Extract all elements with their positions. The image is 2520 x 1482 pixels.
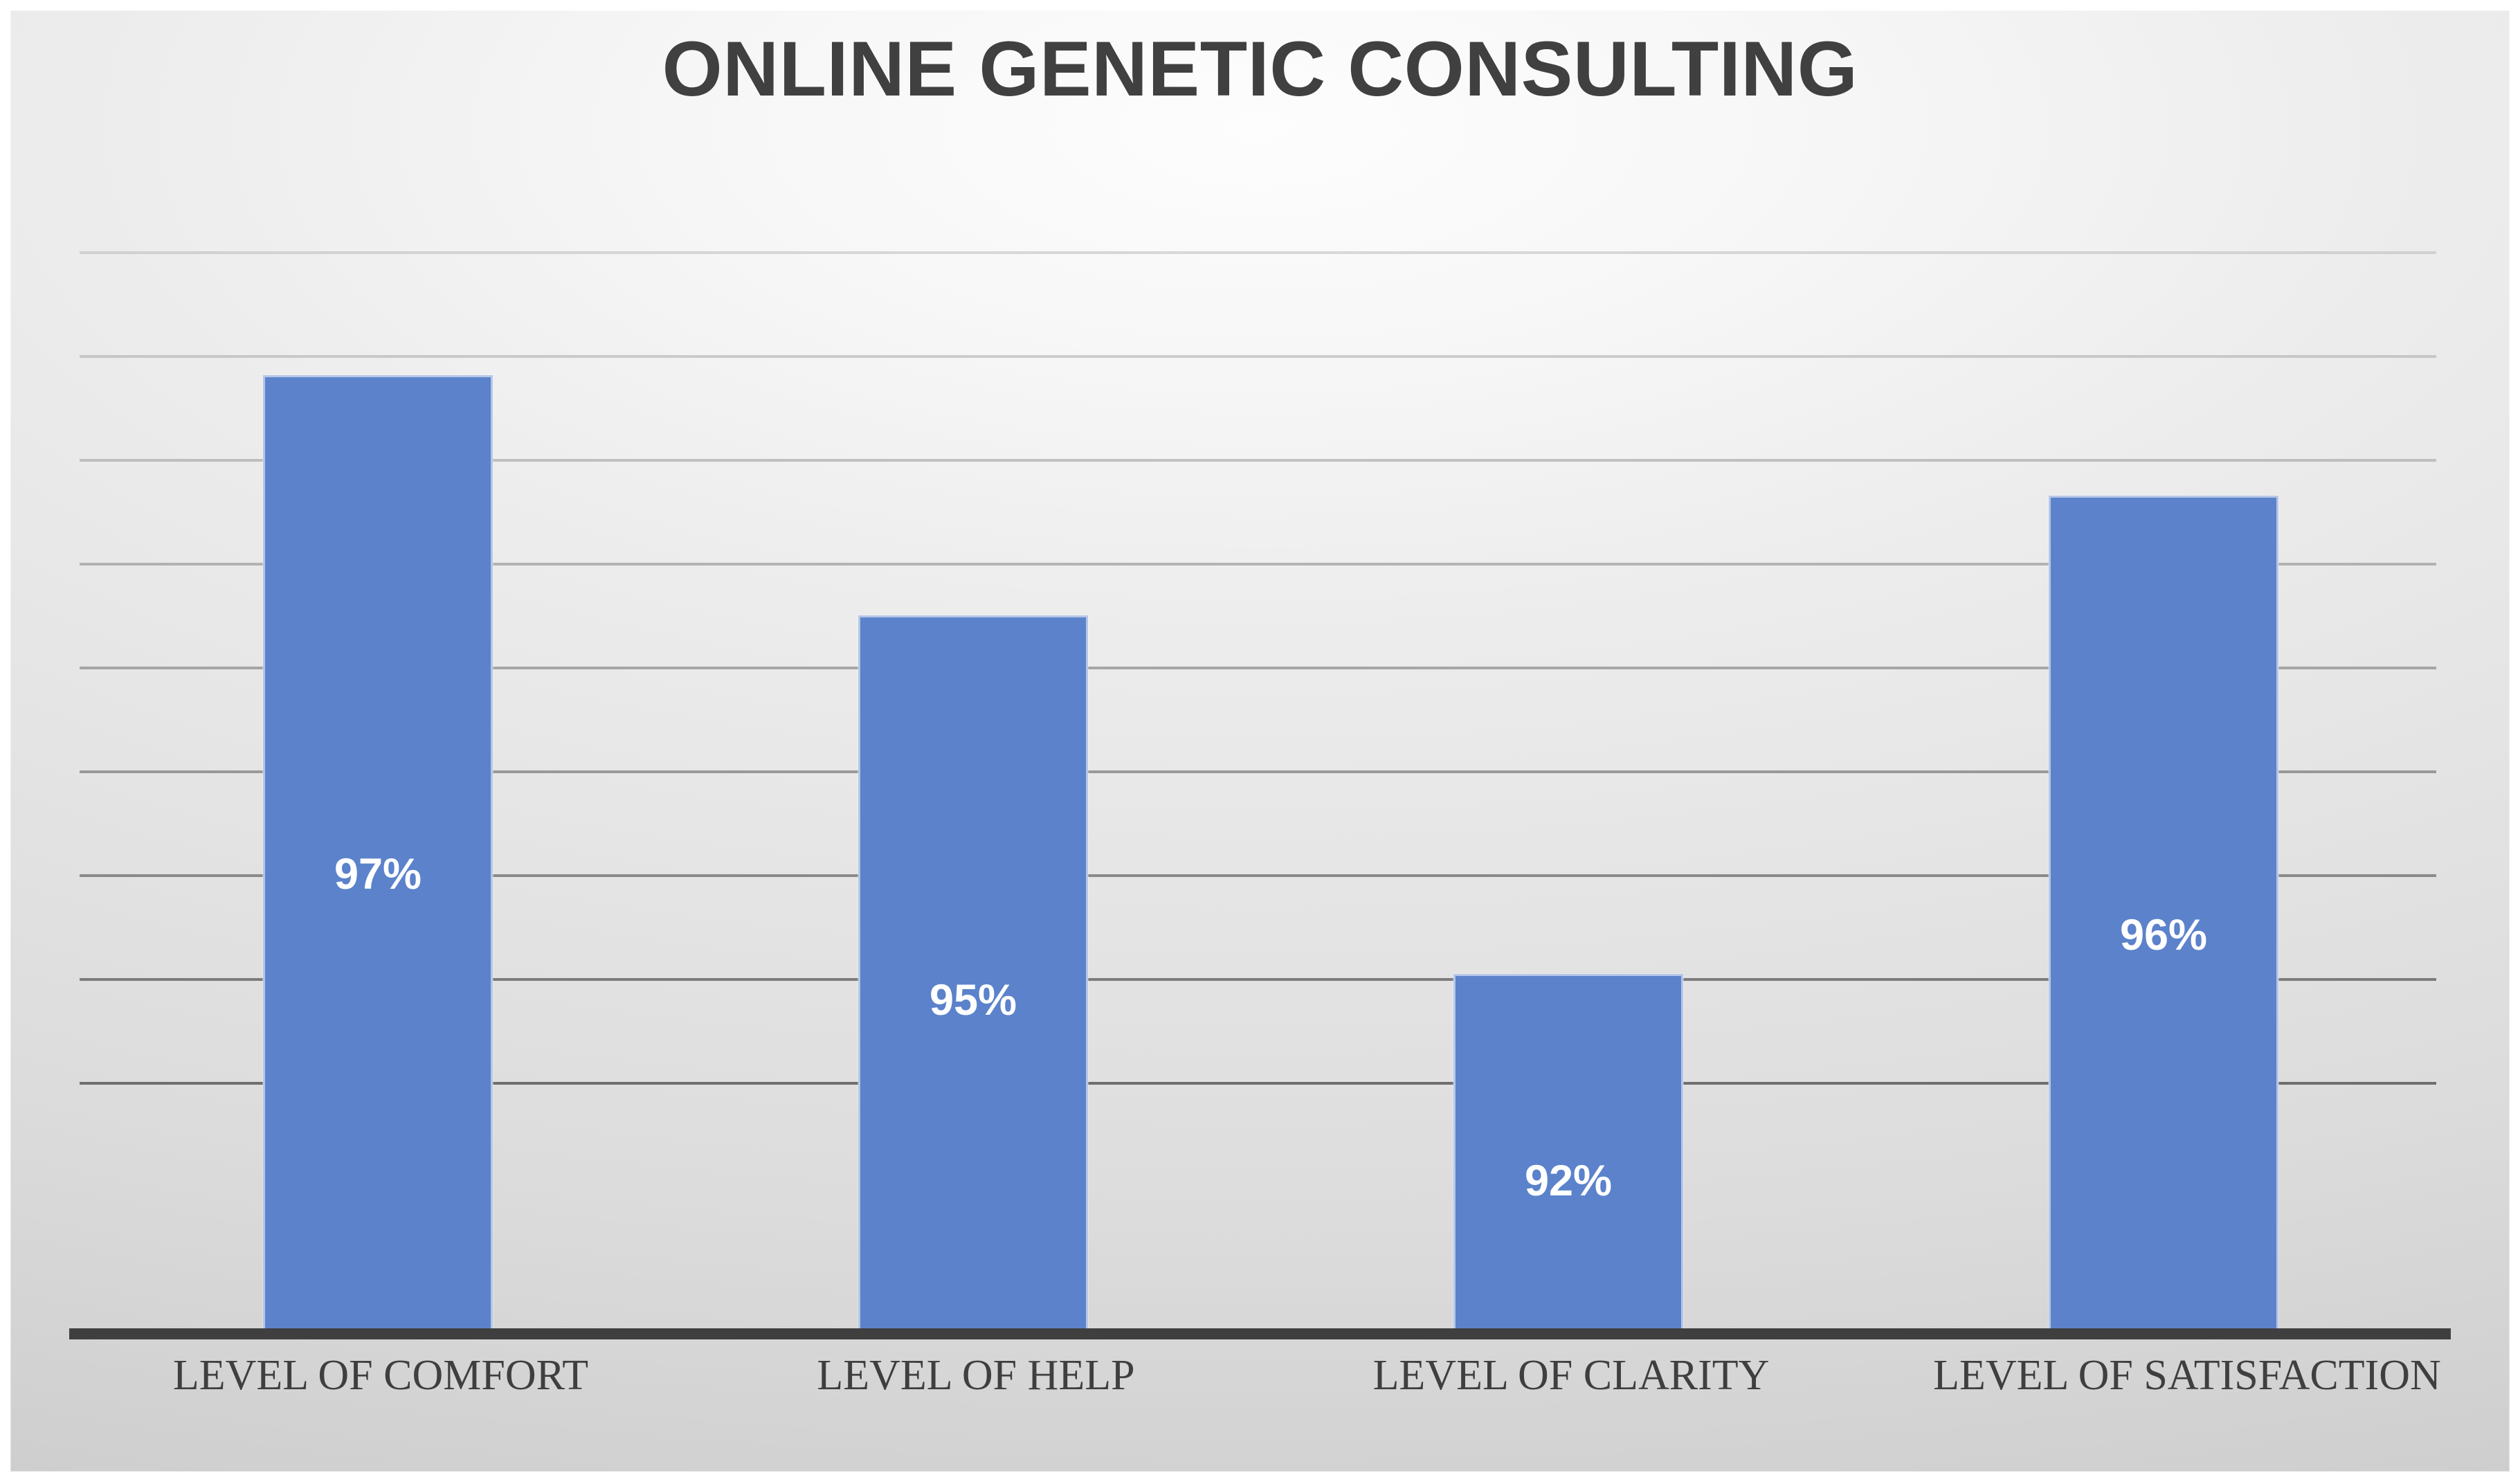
bar-1[interactable]: 95% (858, 615, 1088, 1334)
category-label-2: LEVEL OF CLARITY (1301, 1351, 1841, 1400)
category-label-0: LEVEL OF COMFORT (111, 1351, 651, 1400)
bar-value-label-3: 96% (2049, 914, 2278, 957)
bar-value-label-0: 97% (263, 853, 493, 896)
category-label-3: LEVEL OF SATISFACTION (1841, 1351, 2520, 1400)
category-label-1: LEVEL OF HELP (706, 1351, 1246, 1400)
plot-area: 97%95%92%96% (80, 246, 2436, 1334)
bar-0[interactable]: 97% (263, 375, 493, 1334)
chart-title: ONLINE GENETIC CONSULTING (0, 25, 2520, 114)
gridline-0 (80, 251, 2436, 254)
category-axis-line (69, 1328, 2451, 1339)
bar-2[interactable]: 92% (1453, 974, 1683, 1334)
chart-container: ONLINE GENETIC CONSULTING 97%95%92%96% L… (0, 0, 2520, 1482)
bar-3[interactable]: 96% (2049, 496, 2278, 1334)
gridline-1 (80, 355, 2436, 358)
bar-value-label-2: 92% (1453, 1159, 1683, 1203)
bar-value-label-1: 95% (858, 979, 1088, 1022)
